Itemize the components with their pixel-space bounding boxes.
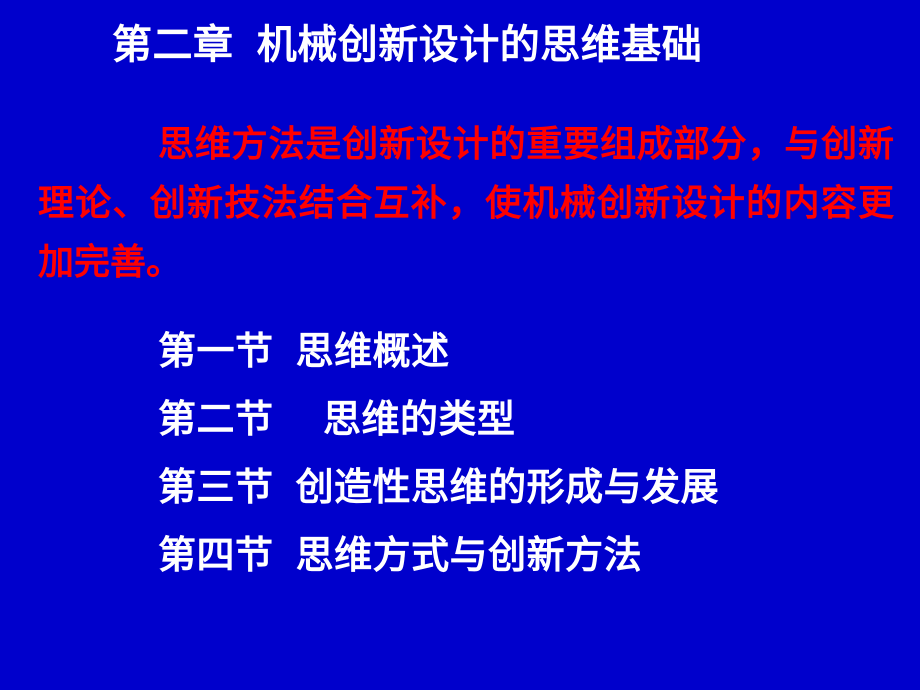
- section-list: 第一节 思维概述 第二节 思维的类型 第三节 创造性思维的形成与发展 第四节 思…: [158, 318, 878, 590]
- intro-paragraph: 思维方法是创新设计的重要组成部分，与创新理论、创新技法结合互补，使机械创新设计的…: [38, 114, 894, 291]
- section-list-item-1: 第一节 思维概述: [158, 318, 878, 386]
- section-list-item-3: 第三节 创造性思维的形成与发展: [158, 454, 878, 522]
- page-title: 第二章 机械创新设计的思维基础: [112, 20, 812, 70]
- section-list-item-4: 第四节 思维方式与创新方法: [158, 522, 878, 590]
- slide-canvas: 第二章 机械创新设计的思维基础 思维方法是创新设计的重要组成部分，与创新理论、创…: [0, 0, 920, 690]
- section-list-item-2: 第二节 思维的类型: [158, 386, 878, 454]
